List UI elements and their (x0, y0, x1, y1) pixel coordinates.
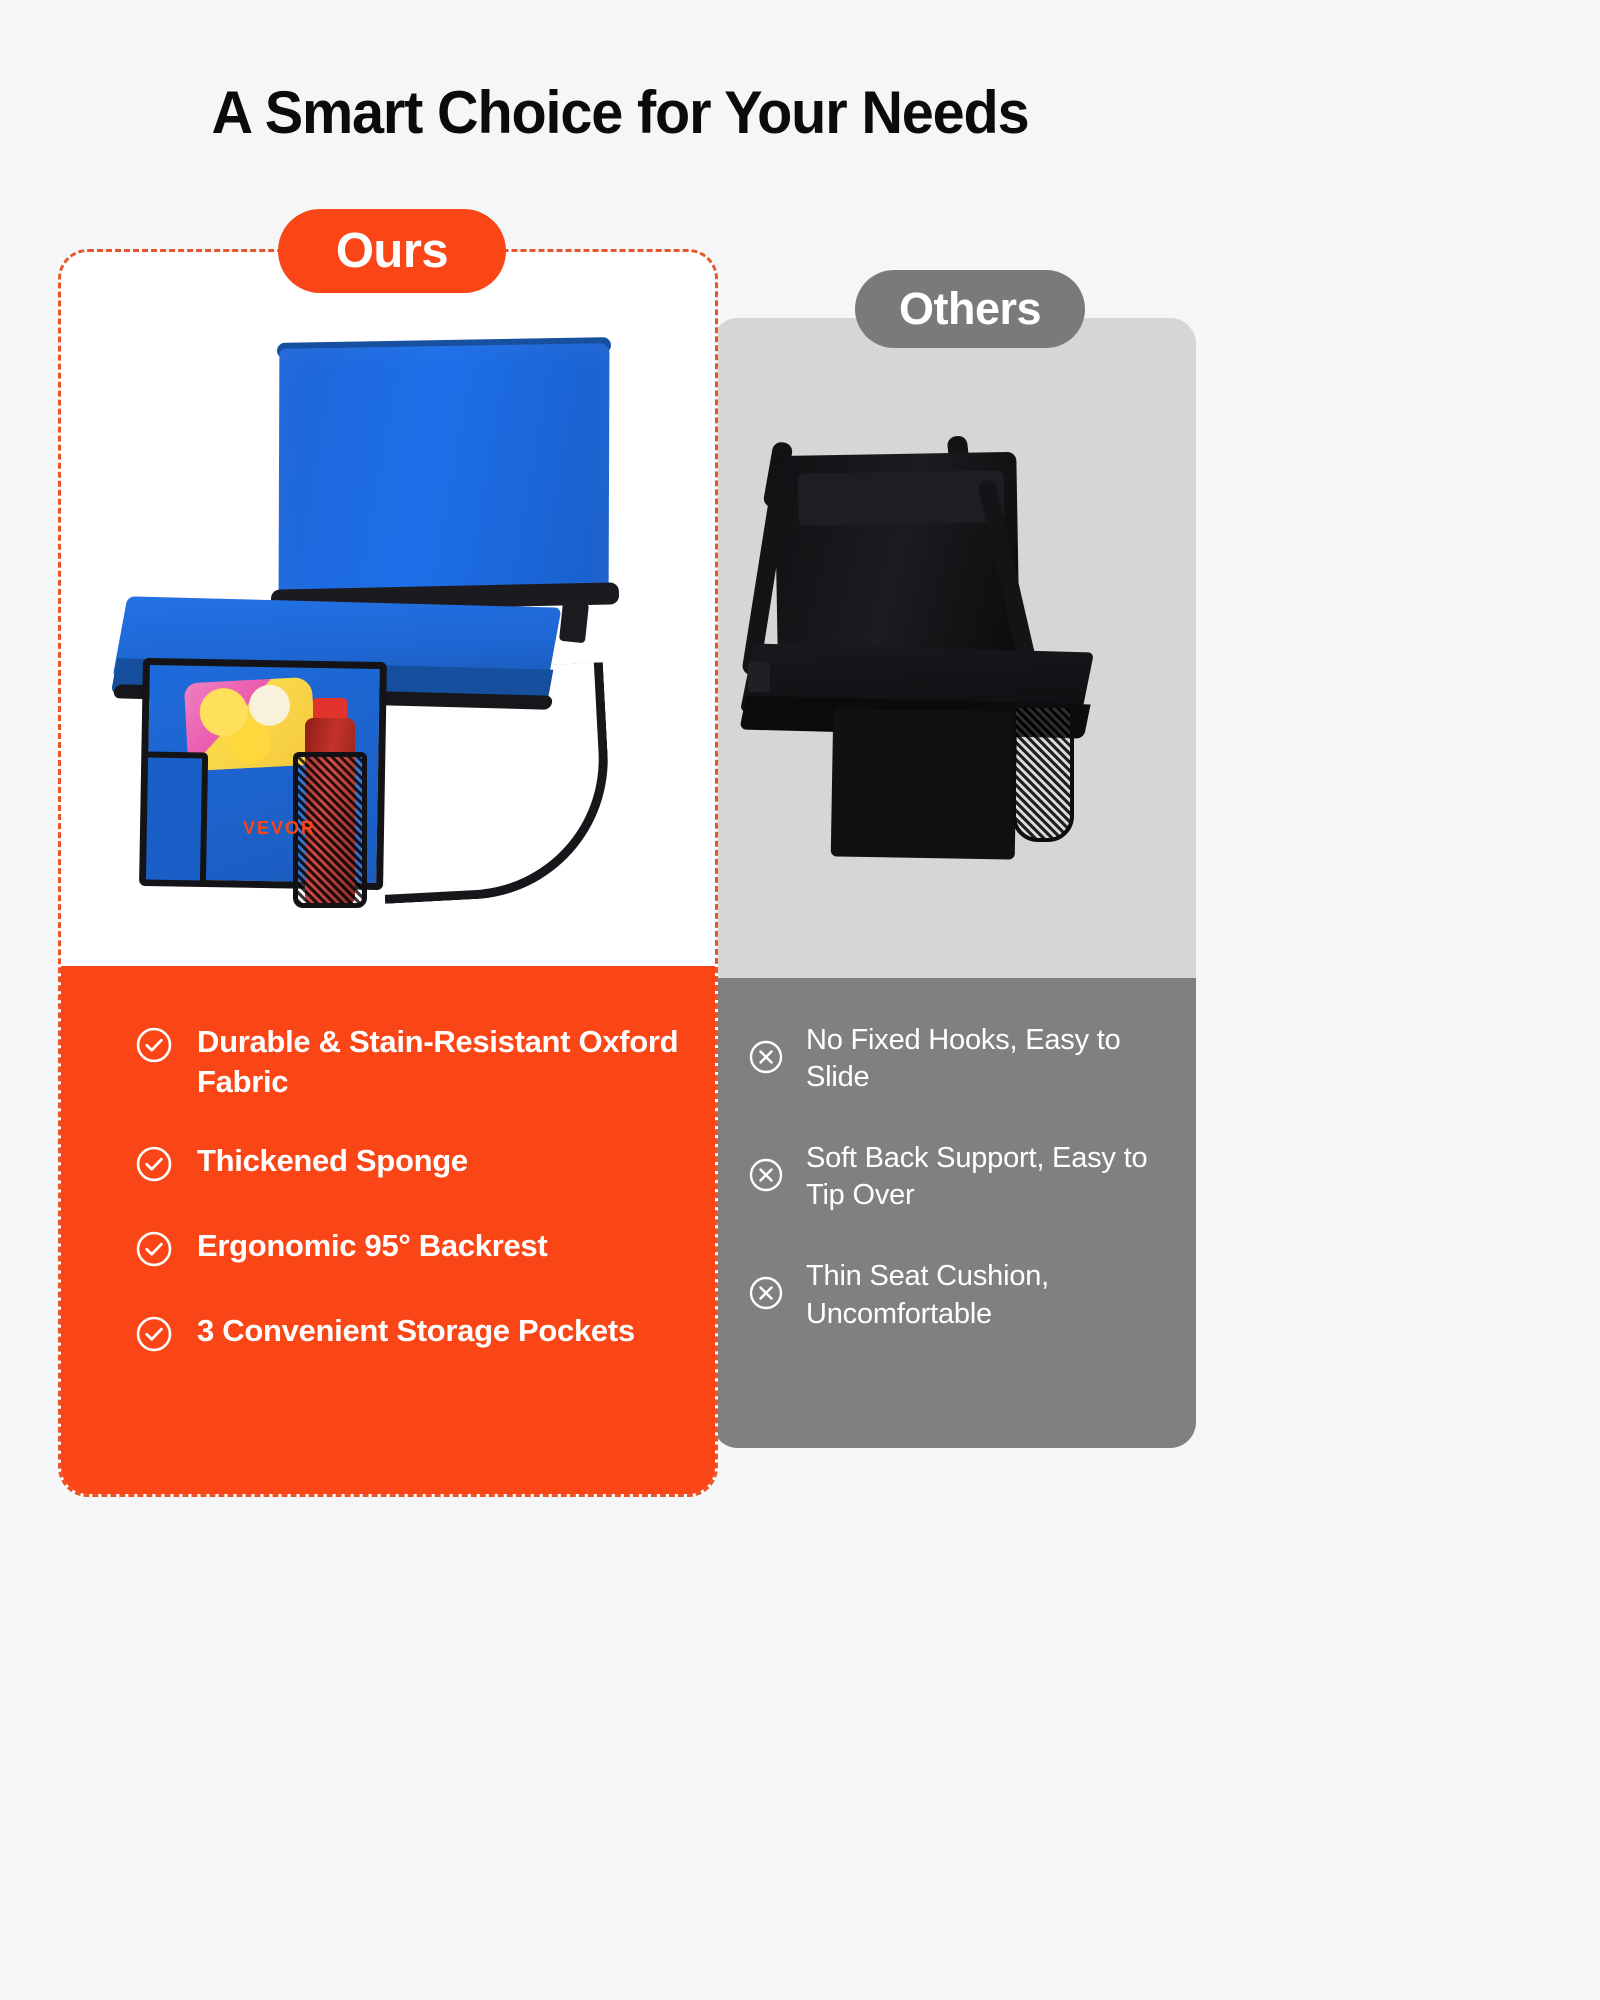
check-circle-icon (135, 1145, 173, 1188)
check-circle-icon (135, 1026, 173, 1069)
others-product-photo (712, 318, 1196, 978)
blue-seat-hinge (559, 601, 589, 643)
black-seat-buckle (748, 662, 770, 692)
check-circle-icon (135, 1230, 173, 1273)
ours-badge: Ours (278, 209, 506, 293)
blue-seat-carry-strap (373, 662, 615, 904)
check-circle-icon (135, 1315, 173, 1358)
blue-stadium-seat-illustration: VEVOR (61, 252, 715, 966)
black-seat-storage-pocket (831, 708, 1018, 859)
feature-label: Ergonomic 95° Backrest (197, 1226, 547, 1266)
bottle-cap (313, 698, 347, 720)
x-circle-icon (748, 1275, 784, 1316)
ours-features-list: Durable & Stain-Resistant Oxford Fabric … (135, 1022, 681, 1358)
ours-features-panel: Durable & Stain-Resistant Oxford Fabric … (61, 966, 715, 1494)
list-item: Soft Back Support, Easy to Tip Over (748, 1140, 1176, 1214)
feature-label: 3 Convenient Storage Pockets (197, 1311, 635, 1351)
drawback-label: Thin Seat Cushion, Uncomfortable (806, 1258, 1176, 1332)
list-item: 3 Convenient Storage Pockets (135, 1311, 681, 1358)
black-seat-headrest (798, 470, 1005, 526)
list-item: Thin Seat Cushion, Uncomfortable (748, 1258, 1176, 1332)
brand-logo: VEVOR (243, 818, 316, 839)
blue-seat-backrest (279, 343, 610, 604)
others-badge: Others (855, 270, 1085, 348)
list-item: Thickened Sponge (135, 1141, 681, 1188)
others-comparison-card: No Fixed Hooks, Easy to Slide Soft Back … (712, 318, 1196, 1448)
page-title: A Smart Choice for Your Needs (25, 78, 1215, 147)
others-drawbacks-list: No Fixed Hooks, Easy to Slide Soft Back … (748, 1022, 1176, 1333)
black-stadium-seat-illustration (712, 318, 1196, 978)
black-seat-mesh-cup-holder (1012, 704, 1074, 842)
x-circle-icon (748, 1157, 784, 1198)
feature-label: Durable & Stain-Resistant Oxford Fabric (197, 1022, 681, 1103)
drawback-label: Soft Back Support, Easy to Tip Over (806, 1140, 1176, 1214)
drawback-label: No Fixed Hooks, Easy to Slide (806, 1022, 1176, 1096)
ours-product-photo: VEVOR (61, 252, 715, 966)
list-item: Durable & Stain-Resistant Oxford Fabric (135, 1022, 681, 1103)
blue-seat-side-pocket (140, 751, 208, 886)
ours-comparison-card: VEVOR Durable & Stain-Resistant Oxford F… (58, 249, 718, 1497)
others-drawbacks-panel: No Fixed Hooks, Easy to Slide Soft Back … (712, 978, 1196, 1448)
x-circle-icon (748, 1039, 784, 1080)
feature-label: Thickened Sponge (197, 1141, 468, 1181)
list-item: No Fixed Hooks, Easy to Slide (748, 1022, 1176, 1096)
list-item: Ergonomic 95° Backrest (135, 1226, 681, 1273)
